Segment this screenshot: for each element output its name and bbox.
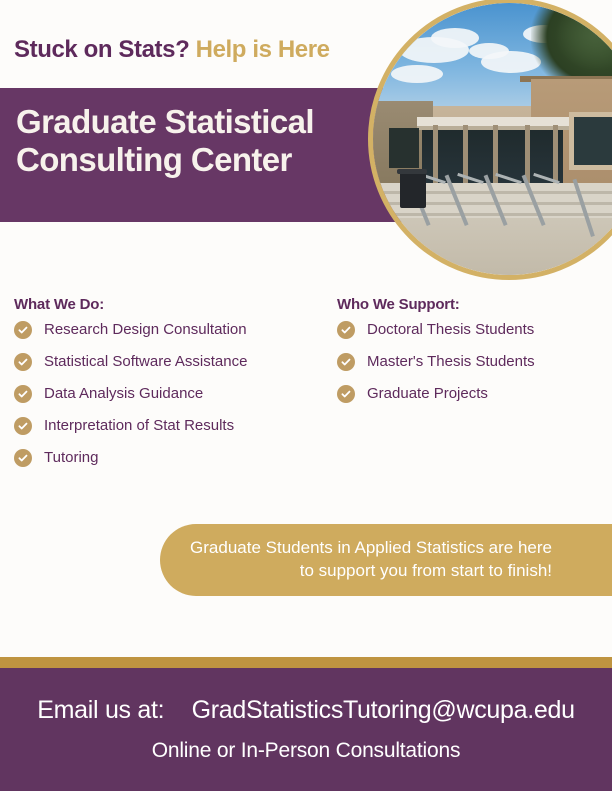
list-item: Doctoral Thesis Students: [337, 321, 599, 339]
list-item-label: Tutoring: [44, 450, 98, 467]
footer-gold-divider: [0, 657, 612, 668]
awning-post: [433, 125, 438, 185]
footer-email-line: Email us at: GradStatisticsTutoring@wcup…: [37, 696, 574, 725]
what-we-do-column: What We Do: Research Design Consultation…: [14, 296, 324, 481]
list-item: Master's Thesis Students: [337, 353, 599, 371]
check-circle-icon: [337, 321, 355, 339]
eyebrow-headline: Stuck on Stats? Help is Here: [14, 36, 330, 64]
pine-tree-secondary: [555, 3, 612, 71]
footer-modes: Online or In-Person Consultations: [152, 739, 461, 763]
list-item-label: Doctoral Thesis Students: [367, 322, 534, 339]
check-circle-icon: [14, 417, 32, 435]
check-circle-icon: [337, 353, 355, 371]
list-item-label: Data Analysis Guidance: [44, 386, 203, 403]
check-circle-icon: [14, 449, 32, 467]
building-window: [389, 128, 419, 168]
eyebrow-primary-text: Stuck on Stats?: [14, 36, 189, 63]
check-circle-icon: [14, 321, 32, 339]
list-item: Interpretation of Stat Results: [14, 417, 324, 435]
list-item: Statistical Software Assistance: [14, 353, 324, 371]
footer-email-address[interactable]: GradStatisticsTutoring@wcupa.edu: [192, 696, 575, 724]
list-item: Tutoring: [14, 449, 324, 467]
who-we-support-heading: Who We Support:: [337, 296, 599, 313]
page-title: Graduate Statistical Consulting Center: [16, 103, 386, 179]
list-item: Data Analysis Guidance: [14, 385, 324, 403]
callout-banner: Graduate Students in Applied Statistics …: [160, 524, 612, 596]
cloud-icon: [431, 28, 479, 48]
list-item: Research Design Consultation: [14, 321, 324, 339]
check-circle-icon: [14, 385, 32, 403]
trash-can-lid: [397, 169, 427, 174]
check-circle-icon: [337, 385, 355, 403]
who-we-support-column: Who We Support: Doctoral Thesis Students…: [337, 296, 599, 417]
eyebrow-secondary-text: Help is Here: [196, 36, 330, 63]
photo-inner: [373, 3, 612, 275]
flyer-poster: Stuck on Stats? Help is Here Graduate St…: [0, 0, 612, 791]
list-item-label: Research Design Consultation: [44, 322, 247, 339]
list-item-label: Graduate Projects: [367, 386, 488, 403]
list-item-label: Statistical Software Assistance: [44, 354, 247, 371]
list-item: Graduate Projects: [337, 385, 599, 403]
plaza-pavement: [373, 218, 612, 275]
footer-contact: Email us at: GradStatisticsTutoring@wcup…: [0, 668, 612, 791]
campus-building-photo: [368, 0, 612, 280]
list-item-label: Interpretation of Stat Results: [44, 418, 234, 435]
cloud-icon: [469, 43, 509, 59]
what-we-do-list: Research Design Consultation Statistical…: [14, 321, 324, 467]
list-item-label: Master's Thesis Students: [367, 354, 535, 371]
building-window: [569, 112, 612, 170]
cloud-icon: [391, 65, 443, 83]
what-we-do-heading: What We Do:: [14, 296, 324, 313]
footer-email-label: Email us at:: [37, 696, 164, 724]
who-we-support-list: Doctoral Thesis Students Master's Thesis…: [337, 321, 599, 403]
callout-text: Graduate Students in Applied Statistics …: [160, 537, 612, 583]
trash-can: [400, 172, 426, 208]
awning-post: [553, 125, 558, 185]
check-circle-icon: [14, 353, 32, 371]
